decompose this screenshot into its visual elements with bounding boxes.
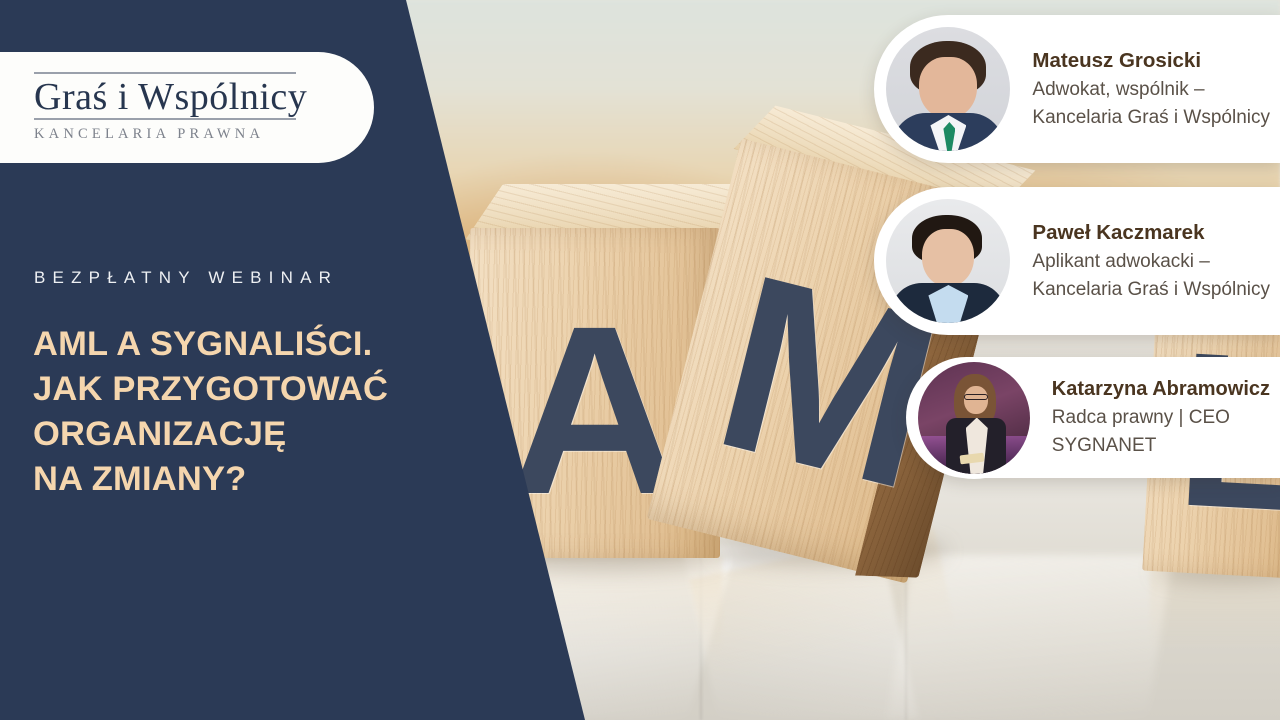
avatar (886, 199, 1010, 323)
speaker-details: Katarzyna Abramowicz Radca prawny | CEO … (1030, 377, 1280, 458)
eyebrow-label: BEZPŁATNY WEBINAR (34, 268, 338, 288)
speaker-name: Paweł Kaczmarek (1032, 220, 1270, 246)
speaker-role-line-1: Aplikant adwokacki – (1032, 249, 1270, 274)
webinar-banner: A M L Graś i Wspólnicy KANCELARIA PRAWNA… (0, 0, 1280, 720)
headline-line-2: JAK PRZYGOTOWAĆ (33, 367, 463, 412)
speaker-role-line-1: Adwokat, wspólnik – (1032, 77, 1270, 102)
logo-rule-bottom (34, 118, 296, 120)
logo-subtitle: KANCELARIA PRAWNA (34, 126, 318, 143)
glasses-icon (964, 394, 988, 400)
speaker-details: Mateusz Grosicki Adwokat, wspólnik – Kan… (1010, 48, 1280, 130)
speaker-name: Katarzyna Abramowicz (1052, 377, 1270, 402)
avatar (918, 362, 1030, 474)
speaker-details: Paweł Kaczmarek Aplikant adwokacki – Kan… (1010, 220, 1280, 302)
headline-line-3: ORGANIZACJĘ (33, 412, 463, 457)
speaker-card-pawel-kaczmarek: Paweł Kaczmarek Aplikant adwokacki – Kan… (874, 187, 1280, 335)
law-firm-logo: Graś i Wspólnicy KANCELARIA PRAWNA (0, 52, 374, 163)
speaker-role-line-2: SYGNANET (1052, 433, 1270, 458)
logo-wordmark: Graś i Wspólnicy (34, 77, 318, 117)
avatar-face (964, 386, 988, 414)
page-title: AML A SYGNALIŚCI. JAK PRZYGOTOWAĆ ORGANI… (33, 322, 463, 501)
avatar-face (919, 57, 977, 119)
speaker-card-mateusz-grosicki: Mateusz Grosicki Adwokat, wspólnik – Kan… (874, 15, 1280, 163)
speaker-role-line-2: Kancelaria Graś i Wspólnicy (1032, 105, 1270, 130)
speaker-card-katarzyna-abramowicz: Katarzyna Abramowicz Radca prawny | CEO … (906, 357, 1280, 478)
speaker-role-line-2: Kancelaria Graś i Wspólnicy (1032, 277, 1270, 302)
headline-line-4: NA ZMIANY? (33, 457, 463, 502)
avatar (886, 27, 1010, 151)
logo-rule-top (34, 72, 296, 74)
speaker-role-line-1: Radca prawny | CEO (1052, 405, 1270, 430)
headline-line-1: AML A SYGNALIŚCI. (33, 322, 463, 367)
speaker-name: Mateusz Grosicki (1032, 48, 1270, 74)
